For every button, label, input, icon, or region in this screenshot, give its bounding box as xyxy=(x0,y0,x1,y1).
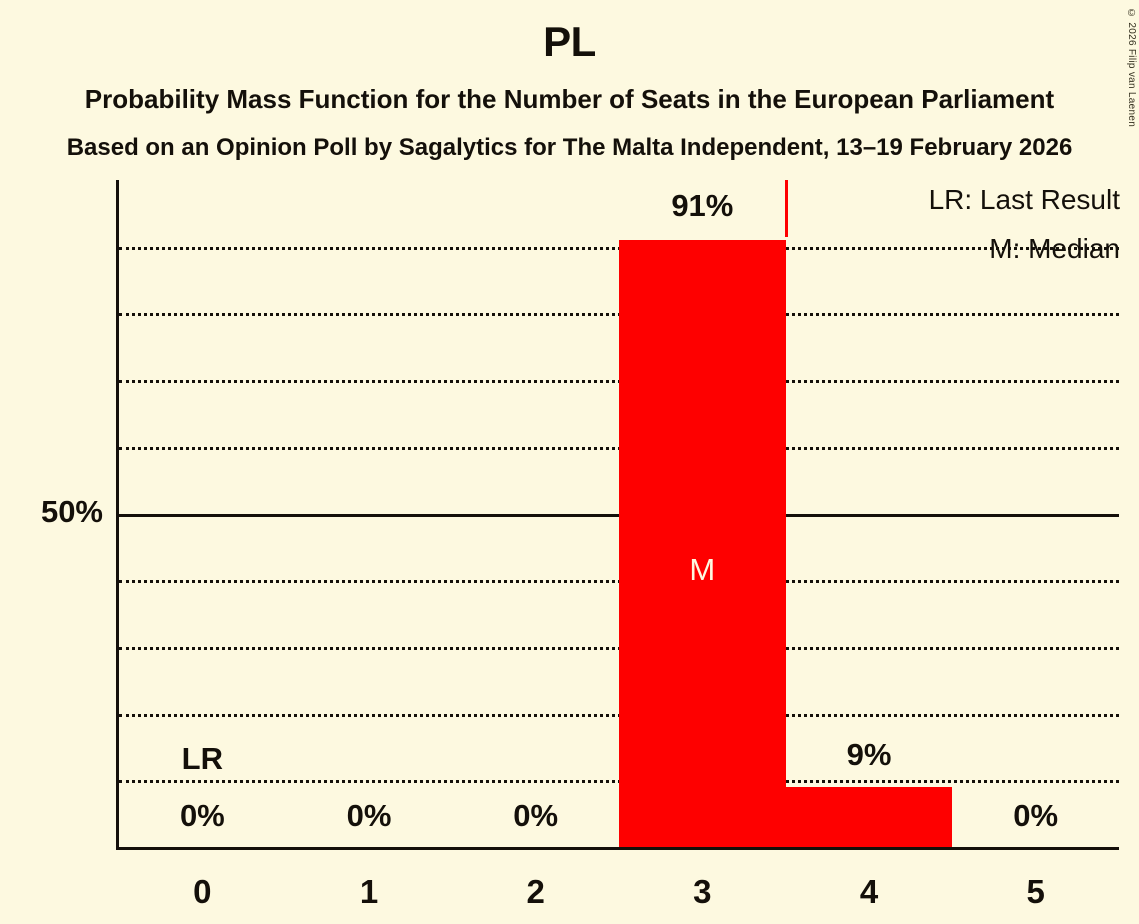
pmf-chart: PL Probability Mass Function for the Num… xyxy=(0,0,1139,924)
last-result-marker: LR xyxy=(119,743,286,774)
bar-4 xyxy=(786,787,953,847)
chart-subtitle: Probability Mass Function for the Number… xyxy=(0,86,1139,112)
legend-median: M: Median xyxy=(989,235,1120,263)
bar-value-3: 91% xyxy=(619,190,786,221)
chart-source-line: Based on an Opinion Poll by Sagalytics f… xyxy=(0,136,1139,160)
bar-value-4: 9% xyxy=(786,739,953,770)
bar-3: M xyxy=(619,240,786,847)
x-axis-tick-3: 3 xyxy=(619,875,786,908)
x-axis-tick-4: 4 xyxy=(786,875,953,908)
bar-value-1: 0% xyxy=(286,800,453,831)
y-axis-tick-50: 50% xyxy=(0,496,103,527)
x-axis-tick-2: 2 xyxy=(452,875,619,908)
page-title: PL xyxy=(0,21,1139,63)
plot-area: M LR 0% 0% 0% 91% 9% 0% xyxy=(119,180,1119,847)
x-axis-tick-0: 0 xyxy=(119,875,286,908)
x-axis-line xyxy=(116,847,1119,850)
bar-value-0: 0% xyxy=(119,800,286,831)
x-axis-tick-1: 1 xyxy=(286,875,453,908)
legend-last-result: LR: Last Result xyxy=(929,186,1120,214)
bar-value-5: 0% xyxy=(952,800,1119,831)
median-marker: M xyxy=(619,554,786,585)
copyright-notice: © 2026 Filip van Laenen xyxy=(1126,8,1137,127)
x-axis-tick-5: 5 xyxy=(952,875,1119,908)
bar-value-2: 0% xyxy=(452,800,619,831)
